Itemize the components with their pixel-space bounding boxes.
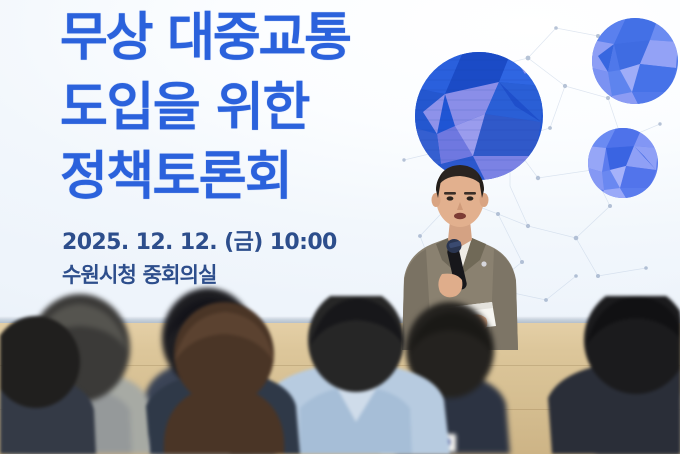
low-poly-circle-top-right [592,18,678,104]
audience-member-7 [548,296,680,454]
seated-audience-front-row [0,296,680,454]
screen-meta-block: 2025. 12. 12. (금) 10:00 수원시청 중회의실 [62,228,337,289]
event-datetime: 2025. 12. 12. (금) 10:00 [62,228,337,258]
audience-member-edge [0,316,96,454]
title-line-2: 도입을 위한 [60,74,480,144]
photo-scene: 무상 대중교통 도입을 위한 정책토론회 2025. 12. 12. (금) 1… [0,0,680,454]
audience-member-5 [146,302,300,454]
low-poly-circle-bottom-right [588,128,658,198]
title-line-1: 무상 대중교통 [60,4,480,74]
